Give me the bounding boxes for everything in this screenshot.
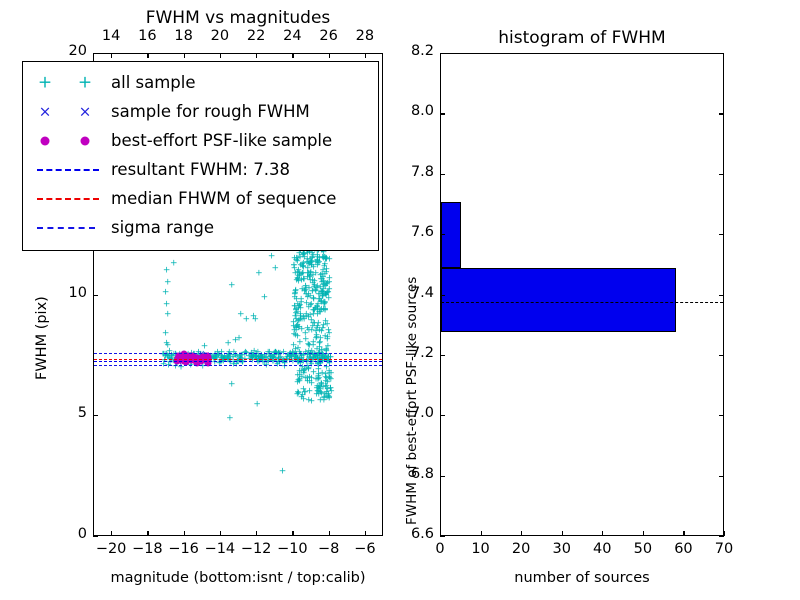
reference-line-median-fhwm-of-sequence bbox=[94, 359, 382, 360]
axis-tick bbox=[440, 53, 445, 54]
scatter-point-all-sample: + bbox=[320, 298, 328, 307]
legend-label: all sample bbox=[111, 73, 196, 92]
axis-tick-label: 7.8 bbox=[388, 164, 434, 180]
axis-tick bbox=[256, 531, 257, 536]
axis-tick-label: 10 bbox=[459, 541, 503, 557]
legend-marker-plus-marker: ++ bbox=[23, 68, 111, 97]
axis-tick bbox=[365, 531, 366, 536]
axis-tick bbox=[365, 53, 366, 58]
scatter-point-all-sample: + bbox=[162, 289, 170, 298]
axis-tick bbox=[184, 531, 185, 536]
axis-tick bbox=[481, 531, 482, 536]
dashed-line-icon bbox=[37, 198, 99, 200]
histogram-data-layer bbox=[441, 54, 723, 535]
right-xlabel: number of sources bbox=[440, 570, 724, 586]
scatter-point-all-sample: + bbox=[170, 260, 178, 269]
axis-tick bbox=[440, 415, 445, 416]
axis-tick bbox=[643, 531, 644, 536]
axis-tick bbox=[93, 536, 98, 537]
plus-icon: + bbox=[78, 74, 92, 91]
axis-tick-label: 28 bbox=[343, 28, 387, 44]
right-plot-title: histogram of FWHM bbox=[440, 28, 724, 48]
right-plot-axes bbox=[440, 53, 724, 536]
axis-tick bbox=[521, 531, 522, 536]
axis-tick bbox=[719, 536, 724, 537]
legend-marker-dashdot-line bbox=[23, 213, 111, 242]
axis-tick bbox=[719, 295, 724, 296]
scatter-point-all-sample: + bbox=[164, 279, 172, 288]
scatter-point-all-sample: + bbox=[325, 373, 333, 382]
axis-tick-label: −6 bbox=[340, 541, 390, 557]
dashed-line-icon bbox=[37, 169, 99, 171]
scatter-point-all-sample: + bbox=[261, 293, 269, 302]
scatter-point-all-sample: + bbox=[232, 337, 240, 346]
axis-tick bbox=[719, 355, 724, 356]
axis-tick-label: 5 bbox=[45, 405, 87, 421]
scatter-point-all-sample: + bbox=[271, 264, 279, 273]
reference-line-sigma-range-lower bbox=[94, 365, 382, 366]
scatter-point-all-sample: + bbox=[224, 339, 232, 348]
axis-tick bbox=[93, 415, 98, 416]
left-xlabel: magnitude (bottom:isnt / top:calib) bbox=[93, 570, 383, 586]
reference-line-resultant-fwhm-shadow bbox=[94, 361, 382, 362]
axis-tick-label: 10 bbox=[45, 285, 87, 301]
axis-tick bbox=[440, 174, 445, 175]
cross-icon: × bbox=[39, 104, 52, 119]
scatter-point-all-sample: + bbox=[304, 340, 312, 349]
scatter-point-all-sample: + bbox=[228, 380, 236, 389]
legend-label: resultant FWHM: 7.38 bbox=[111, 160, 290, 179]
axis-tick bbox=[93, 53, 98, 54]
scatter-point-all-sample: + bbox=[255, 269, 263, 278]
legend-box: ++all sample××sample for rough FWHMbest-… bbox=[22, 61, 379, 251]
histogram-bar bbox=[441, 268, 676, 331]
axis-tick bbox=[719, 174, 724, 175]
axis-tick-label: 8.2 bbox=[388, 43, 434, 59]
left-plot-title: FWHM vs magnitudes bbox=[93, 8, 383, 28]
axis-tick bbox=[440, 113, 445, 114]
axis-tick-label: 50 bbox=[621, 541, 665, 557]
legend-item-1: ××sample for rough FWHM bbox=[23, 97, 378, 126]
axis-tick bbox=[602, 531, 603, 536]
axis-tick bbox=[440, 295, 445, 296]
axis-tick bbox=[683, 531, 684, 536]
scatter-point-all-sample: + bbox=[292, 305, 300, 314]
legend-marker-dashed-line bbox=[23, 184, 111, 213]
scatter-point-all-sample: + bbox=[253, 401, 261, 410]
scatter-point-all-sample: + bbox=[315, 390, 323, 399]
axis-tick bbox=[440, 355, 445, 356]
axis-tick bbox=[220, 531, 221, 536]
legend-label: sample for rough FWHM bbox=[111, 102, 310, 121]
axis-tick bbox=[440, 234, 445, 235]
axis-tick bbox=[719, 476, 724, 477]
left-ylabel: FWHM (pix) bbox=[34, 296, 50, 380]
axis-tick bbox=[329, 531, 330, 536]
scatter-point-all-sample: + bbox=[162, 330, 170, 339]
scatter-point-all-sample: + bbox=[314, 306, 322, 315]
scatter-point-all-sample: + bbox=[290, 331, 298, 340]
axis-tick bbox=[147, 53, 148, 58]
scatter-point-all-sample: + bbox=[164, 342, 172, 351]
scatter-point-all-sample: + bbox=[319, 253, 327, 262]
axis-tick-label: 0 bbox=[418, 541, 462, 557]
plus-icon: + bbox=[38, 74, 52, 91]
scatter-point-all-sample: + bbox=[228, 281, 236, 290]
circle-icon bbox=[41, 136, 50, 145]
cross-icon: × bbox=[79, 104, 92, 119]
right-ylabel: FWHM of best-effort PSF-like sources bbox=[404, 277, 420, 525]
scatter-point-all-sample: + bbox=[226, 414, 234, 423]
scatter-point-all-sample: + bbox=[290, 319, 298, 328]
axis-tick-label: 7.6 bbox=[388, 224, 434, 240]
scatter-point-all-sample: + bbox=[297, 295, 305, 304]
legend-item-5: sigma range bbox=[23, 213, 378, 242]
axis-tick-label: 20 bbox=[499, 541, 543, 557]
scatter-point-all-sample: + bbox=[295, 390, 303, 399]
legend-item-2: best-effort PSF-like sample bbox=[23, 126, 378, 155]
axis-tick bbox=[93, 295, 98, 296]
legend-item-3: resultant FWHM: 7.38 bbox=[23, 155, 378, 184]
dashdot-line-icon bbox=[37, 227, 95, 229]
axis-tick bbox=[256, 53, 257, 58]
axis-tick bbox=[329, 53, 330, 58]
scatter-point-all-sample: + bbox=[298, 315, 306, 324]
scatter-point-all-sample: + bbox=[164, 310, 172, 319]
axis-tick-label: 0 bbox=[45, 526, 87, 542]
axis-tick bbox=[440, 536, 445, 537]
scatter-point-all-sample: + bbox=[252, 315, 260, 324]
axis-tick bbox=[292, 531, 293, 536]
axis-tick-label: 8.0 bbox=[388, 103, 434, 119]
scatter-point-all-sample: + bbox=[318, 369, 326, 378]
scatter-point-all-sample: + bbox=[304, 270, 312, 279]
histogram-median-line bbox=[441, 302, 723, 303]
axis-tick-label: 60 bbox=[661, 541, 705, 557]
axis-tick bbox=[111, 53, 112, 58]
axis-tick-label: 30 bbox=[540, 541, 584, 557]
axis-tick-label: 20 bbox=[45, 43, 87, 59]
legend-marker-circle-marker bbox=[23, 126, 111, 155]
figure-canvas: FWHM vs magnitudes +++++++++++++++++++++… bbox=[0, 0, 800, 600]
axis-tick bbox=[719, 415, 724, 416]
axis-tick bbox=[719, 53, 724, 54]
axis-tick bbox=[719, 113, 724, 114]
legend-item-4: median FHWM of sequence bbox=[23, 184, 378, 213]
circle-icon bbox=[81, 136, 90, 145]
scatter-point-all-sample: + bbox=[163, 301, 171, 310]
axis-tick bbox=[719, 234, 724, 235]
scatter-point-all-sample: + bbox=[318, 380, 326, 389]
axis-tick-label: 6.6 bbox=[388, 526, 434, 542]
legend-label: best-effort PSF-like sample bbox=[111, 131, 332, 150]
axis-tick bbox=[292, 53, 293, 58]
scatter-point-all-sample: + bbox=[279, 467, 287, 476]
scatter-point-all-sample: + bbox=[306, 377, 314, 386]
axis-tick bbox=[111, 531, 112, 536]
scatter-point-all-sample: + bbox=[321, 332, 329, 341]
reference-line-sigma-range-upper bbox=[94, 353, 382, 354]
axis-tick bbox=[724, 531, 725, 536]
scatter-point-all-sample: + bbox=[305, 327, 313, 336]
axis-tick-label: 40 bbox=[580, 541, 624, 557]
axis-tick bbox=[147, 531, 148, 536]
scatter-point-all-sample: + bbox=[313, 325, 321, 334]
axis-tick bbox=[220, 53, 221, 58]
axis-tick bbox=[562, 531, 563, 536]
axis-tick-label: 70 bbox=[702, 541, 746, 557]
scatter-point-all-sample: + bbox=[294, 378, 302, 387]
axis-tick bbox=[184, 53, 185, 58]
axis-tick bbox=[440, 476, 445, 477]
legend-label: sigma range bbox=[111, 218, 214, 237]
legend-item-0: ++all sample bbox=[23, 68, 378, 97]
scatter-point-all-sample: + bbox=[299, 251, 307, 260]
legend-marker-dashed-line bbox=[23, 155, 111, 184]
scatter-point-all-sample: + bbox=[322, 347, 330, 356]
legend-label: median FHWM of sequence bbox=[111, 189, 336, 208]
legend-marker-cross-marker: ×× bbox=[23, 97, 111, 126]
scatter-point-all-sample: + bbox=[268, 252, 276, 261]
